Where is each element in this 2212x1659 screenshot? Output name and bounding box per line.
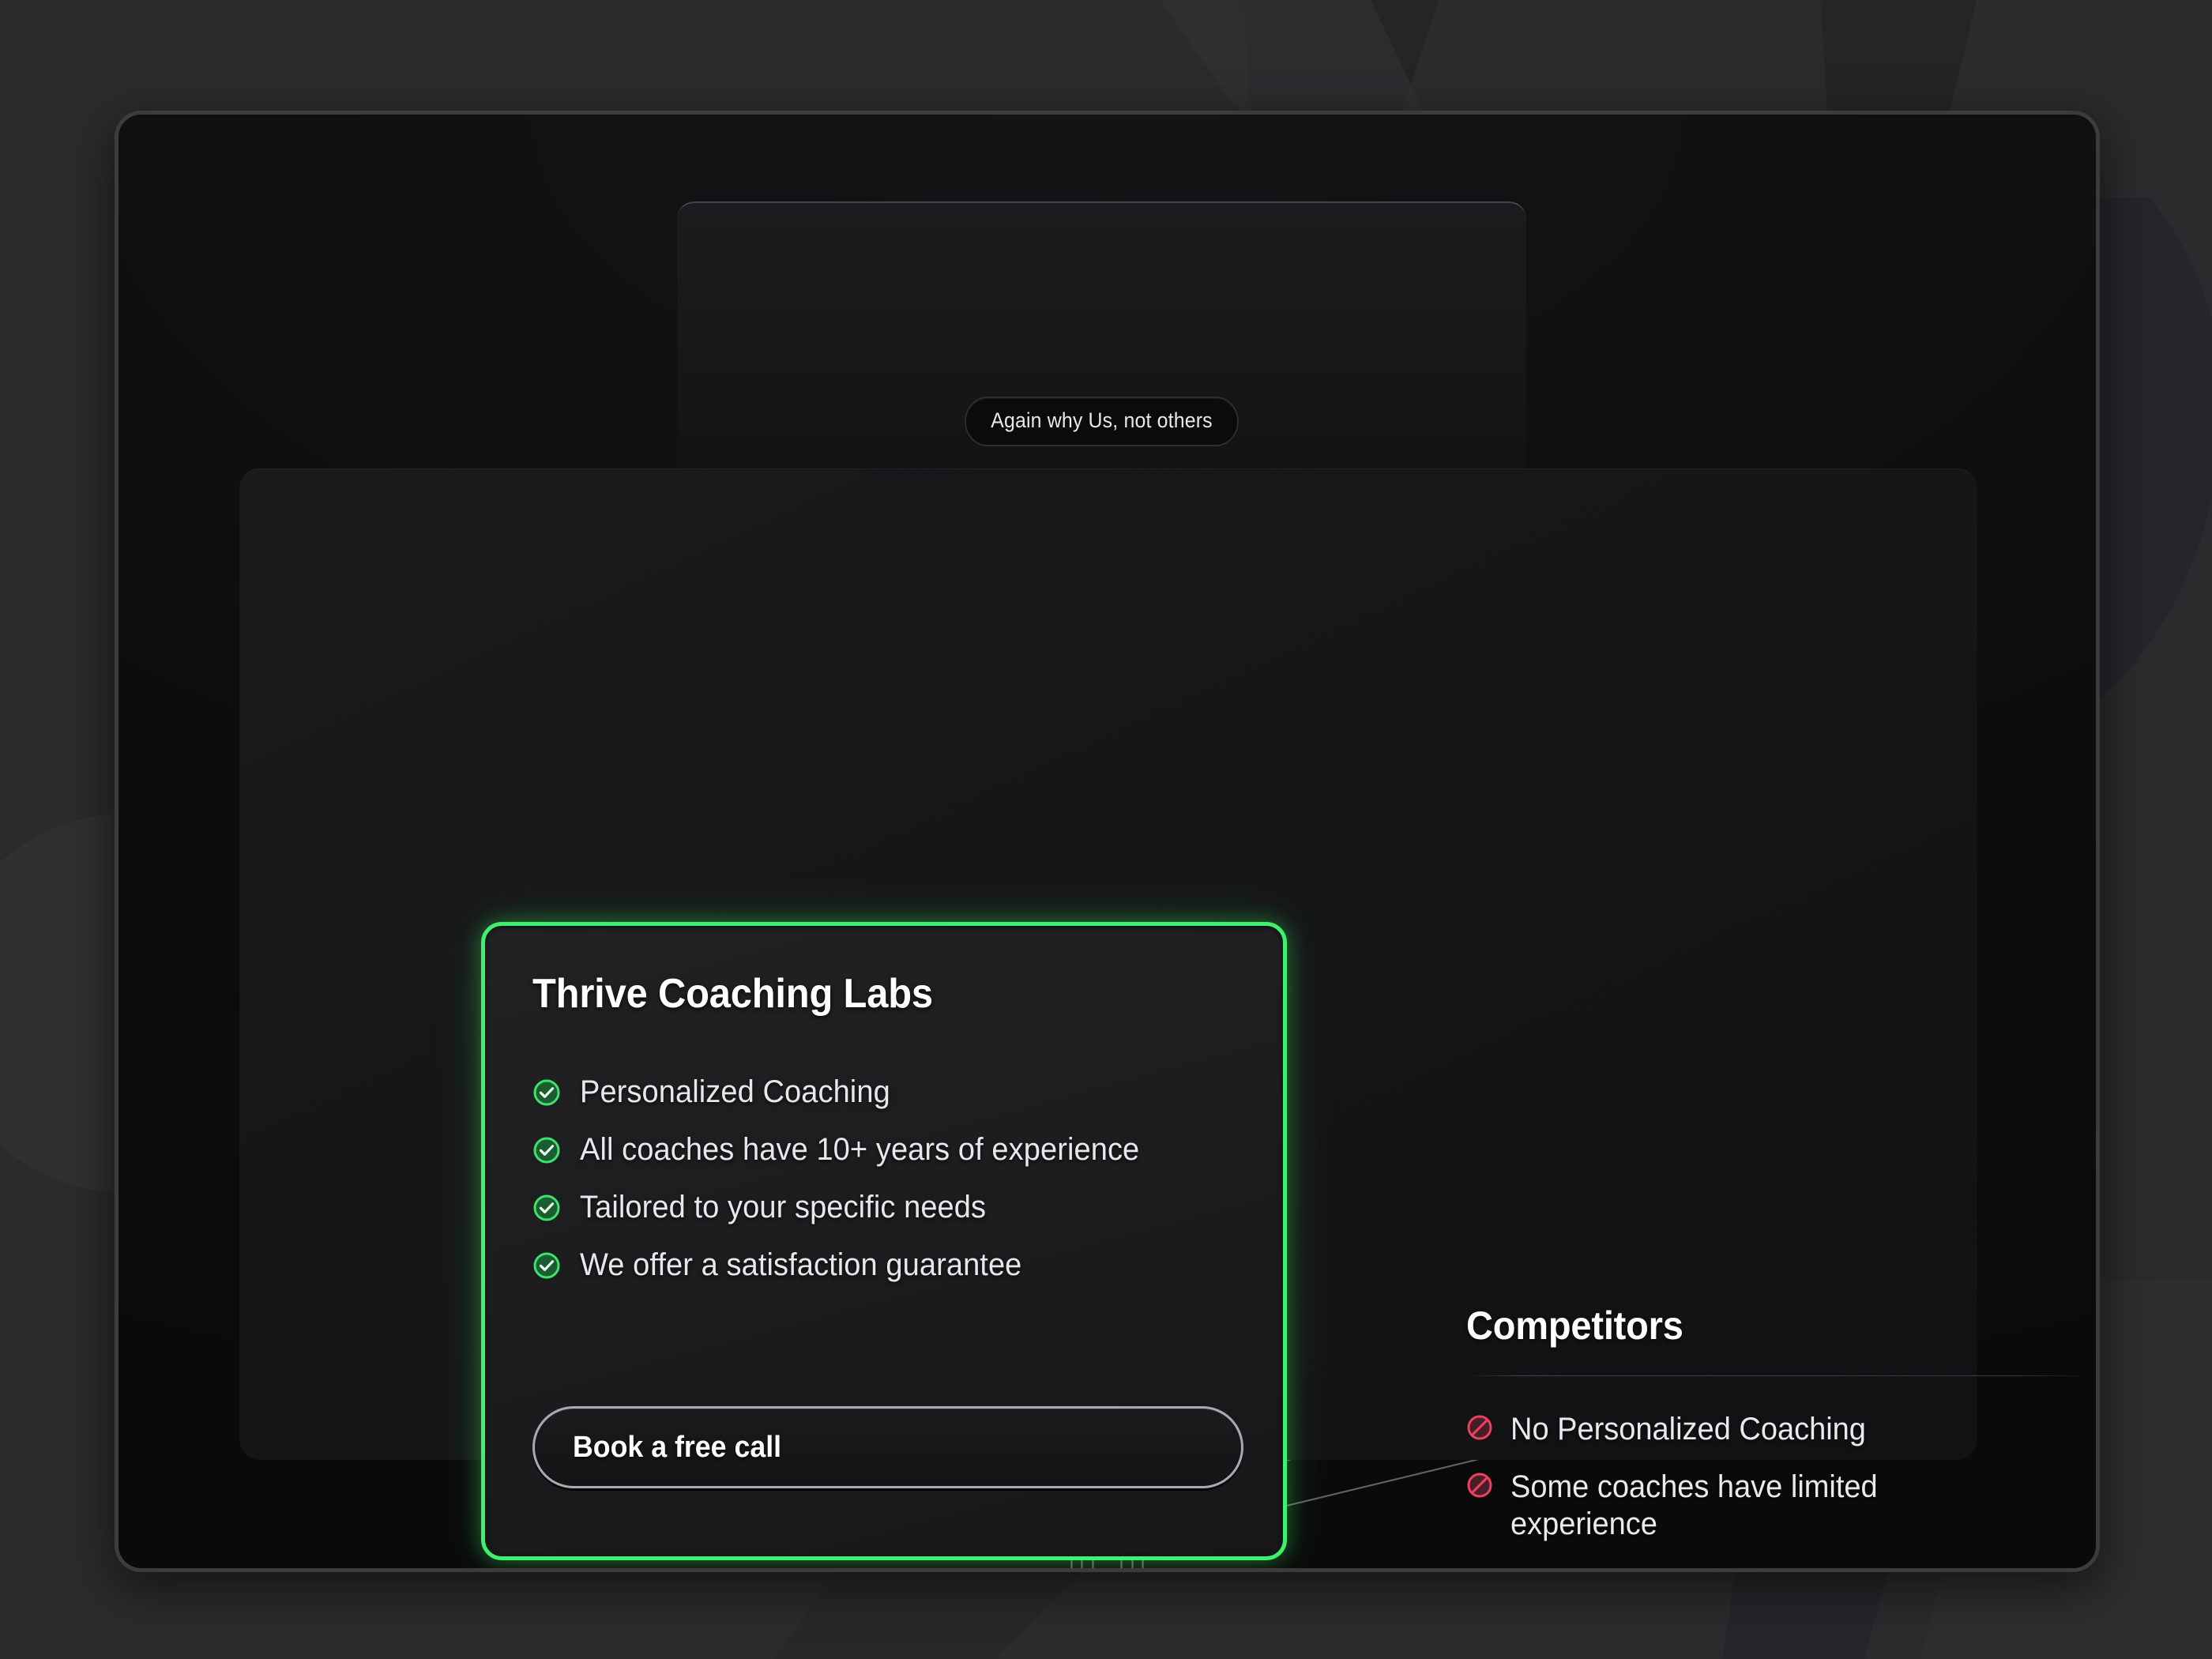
feature-label: Personalized Coaching: [580, 1074, 890, 1110]
list-item: Some coaches have limited experience: [1466, 1469, 2090, 1543]
list-item: All coaches have 10+ years of experience: [532, 1132, 1236, 1168]
prohibition-icon: [1466, 1414, 1493, 1441]
check-circle-icon: [532, 1078, 561, 1107]
list-item: We offer a satisfaction guarantee: [532, 1247, 1236, 1283]
thrive-card-title: Thrive Coaching Labs: [532, 970, 1194, 1018]
competitors-column: Competitors No Personalized Coaching: [1466, 1303, 2090, 1568]
list-item: Personalized Coaching: [532, 1074, 1236, 1110]
prohibition-icon: [1466, 1567, 1493, 1568]
check-circle-icon: [532, 1136, 561, 1164]
feature-label: All coaches have 10+ years of experience: [580, 1132, 1139, 1168]
monitor-frame: Again why Us, not others Not Sure Where …: [115, 111, 2100, 1572]
competitor-label: Limited customization options: [1510, 1564, 1904, 1568]
competitor-label: No Personalized Coaching: [1510, 1411, 1866, 1448]
feature-label: Tailored to your specific needs: [580, 1190, 986, 1225]
list-item: Tailored to your specific needs: [532, 1190, 1236, 1225]
divider: [1466, 1375, 2090, 1376]
book-call-label: Book a free call: [573, 1431, 781, 1465]
check-circle-icon: [532, 1194, 561, 1222]
screen-surface: Again why Us, not others Not Sure Where …: [118, 115, 2096, 1568]
feature-label: We offer a satisfaction guarantee: [580, 1247, 1021, 1283]
check-circle-icon: [532, 1251, 561, 1280]
competitors-feature-list: No Personalized Coaching Some coaches ha…: [1466, 1411, 2090, 1568]
comparison-panel: Thrive Coaching Labs Personalized Coachi…: [239, 468, 1977, 1460]
book-a-free-call-button[interactable]: Book a free call: [532, 1406, 1243, 1488]
prohibition-icon: [1466, 1472, 1493, 1499]
competitors-title: Competitors: [1466, 1303, 2053, 1349]
thrive-feature-list: Personalized Coaching All coaches have 1…: [532, 1074, 1236, 1283]
eyebrow-badge: Again why Us, not others: [965, 397, 1239, 446]
competitor-label: Some coaches have limited experience: [1510, 1469, 1931, 1543]
list-item: No Personalized Coaching: [1466, 1411, 2090, 1448]
list-item: Limited customization options: [1466, 1564, 2090, 1568]
thrive-coaching-card: Thrive Coaching Labs Personalized Coachi…: [481, 922, 1287, 1560]
